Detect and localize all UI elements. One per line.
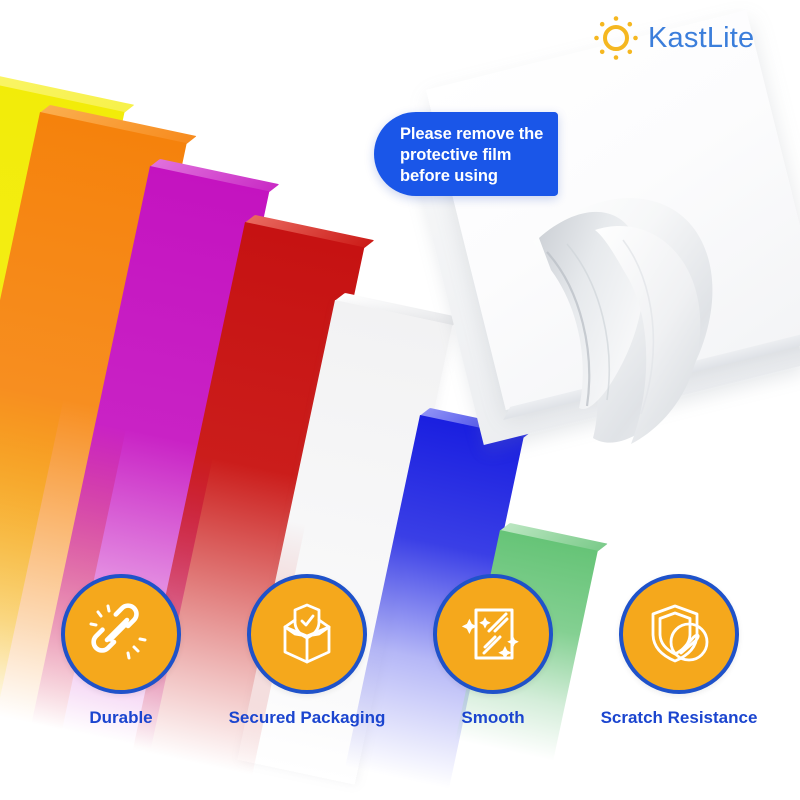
durable-badge	[61, 574, 181, 694]
shield-knife-icon	[645, 600, 713, 668]
scratch-resistance-badge	[619, 574, 739, 694]
sparkle-panel-icon	[460, 601, 526, 667]
brand-logo: KastLite	[592, 14, 754, 62]
protective-film-callout: Please remove theprotective filmbefore u…	[374, 112, 558, 196]
feature-scratch-resistance: Scratch Resistance	[594, 574, 764, 729]
secured-packaging-label: Secured Packaging	[229, 708, 386, 729]
smooth-label: Smooth	[461, 708, 524, 729]
chain-link-icon	[88, 601, 154, 667]
scratch-resistance-label: Scratch Resistance	[601, 708, 758, 729]
durable-label: Durable	[89, 708, 152, 729]
callout-line-1: Please remove the	[400, 125, 543, 143]
sun-icon	[592, 14, 640, 62]
product-marketing-image: Please remove theprotective filmbefore u…	[0, 0, 800, 800]
callout-line-2: protective film	[400, 146, 511, 164]
callout-text: Please remove theprotective filmbefore u…	[400, 124, 550, 187]
callout-line-3: before using	[400, 167, 498, 185]
smooth-badge	[433, 574, 553, 694]
feature-secured-packaging: Secured Packaging	[222, 574, 392, 729]
secured-packaging-badge	[247, 574, 367, 694]
feature-badges: Durable Secured Packaging	[0, 574, 800, 774]
brand-name: KastLite	[648, 22, 754, 55]
shield-box-icon	[273, 600, 341, 668]
feature-durable: Durable	[36, 574, 206, 729]
feature-smooth: Smooth	[408, 574, 578, 729]
